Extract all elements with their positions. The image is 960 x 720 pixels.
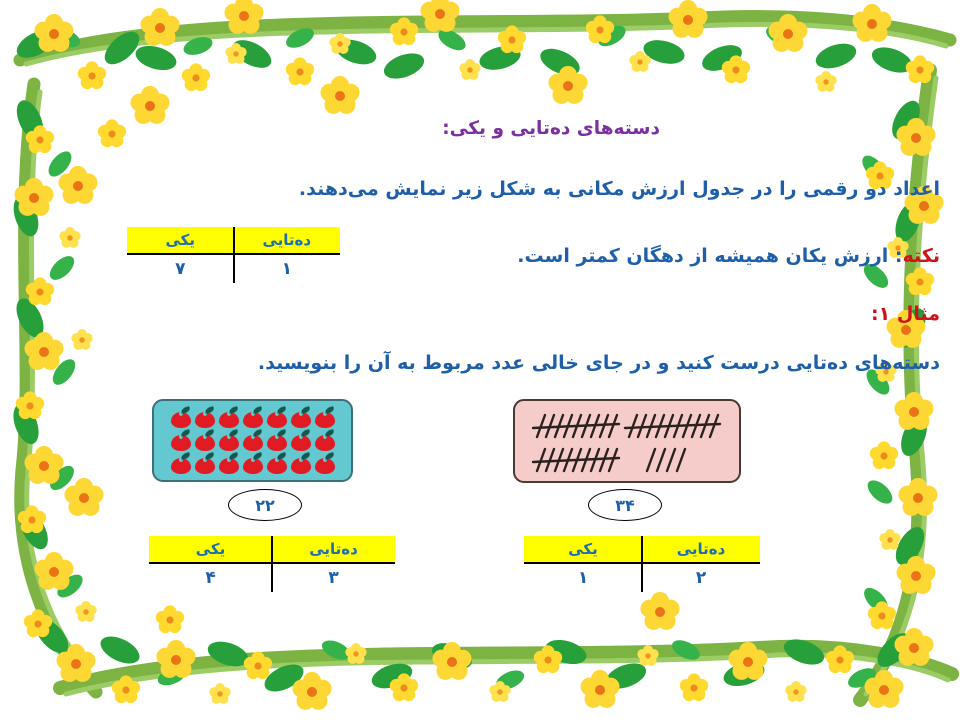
apples-answer-ellipse[interactable]: ۲۲: [228, 489, 302, 521]
apple-icon: [314, 430, 336, 451]
value-ones[interactable]: ۴: [149, 564, 272, 592]
value-tens[interactable]: ۲: [642, 564, 760, 592]
value-ones[interactable]: ۱: [524, 564, 642, 592]
apple-row: [170, 430, 336, 451]
apple-icon: [170, 453, 192, 474]
value-ones: ۷: [127, 255, 234, 283]
apple-icon: [218, 453, 240, 474]
apples-group-box: [152, 399, 353, 482]
example-label: مثال ۱:: [871, 303, 940, 325]
table-column-divider: [271, 536, 273, 592]
apple-icon: [242, 453, 264, 474]
apple-icon: [314, 453, 336, 474]
tally-marks-box: [513, 399, 741, 483]
apple-icon: [266, 407, 288, 428]
apple-icon: [218, 407, 240, 428]
value-tens[interactable]: ۳: [272, 564, 395, 592]
apple-icon: [194, 453, 216, 474]
apple-icon: [266, 453, 288, 474]
page-title: دسته‌های ده‌تایی و یکی:: [442, 118, 660, 139]
value-tens: ۱: [234, 255, 341, 283]
table-column-divider: [233, 227, 235, 283]
place-value-table-tally: یکی ده‌تایی ۴ ۳: [149, 536, 395, 592]
apple-icon: [290, 407, 312, 428]
header-ones: یکی: [127, 227, 234, 253]
note-label: نکته: [903, 245, 940, 267]
note-line: نکته: ارزش یکان همیشه از دهگان کمتر است.: [517, 245, 940, 267]
apple-icon: [242, 430, 264, 451]
apple-icon: [290, 430, 312, 451]
apple-icon: [194, 430, 216, 451]
apple-row: [170, 453, 336, 474]
tally-marks-svg: [515, 401, 739, 481]
apple-icon: [194, 407, 216, 428]
apple-icon: [242, 407, 264, 428]
tally-answer-ellipse[interactable]: ۳۴: [588, 489, 662, 521]
slide-page: دسته‌های ده‌تایی و یکی: اعداد دو رقمی را…: [0, 0, 960, 720]
apple-row: [170, 407, 336, 428]
place-value-table-apples: یکی ده‌تایی ۱ ۲: [524, 536, 760, 592]
header-tens: ده‌تایی: [234, 227, 341, 253]
header-tens: ده‌تایی: [272, 536, 395, 562]
apple-icon: [170, 407, 192, 428]
table-column-divider: [641, 536, 643, 592]
apple-icon: [170, 430, 192, 451]
apple-icon: [314, 407, 336, 428]
header-tens: ده‌تایی: [642, 536, 760, 562]
apple-icon: [218, 430, 240, 451]
header-ones: یکی: [524, 536, 642, 562]
apple-icon: [266, 430, 288, 451]
header-ones: یکی: [149, 536, 272, 562]
note-text: : ارزش یکان همیشه از دهگان کمتر است.: [517, 245, 902, 267]
intro-text: اعداد دو رقمی را در جدول ارزش مکانی به ش…: [299, 178, 940, 200]
apple-icon: [290, 453, 312, 474]
instruction-text: دسته‌های ده‌تایی درست کنید و در جای خالی…: [258, 352, 940, 374]
place-value-table-example: یکی ده‌تایی ۷ ۱: [127, 227, 340, 283]
